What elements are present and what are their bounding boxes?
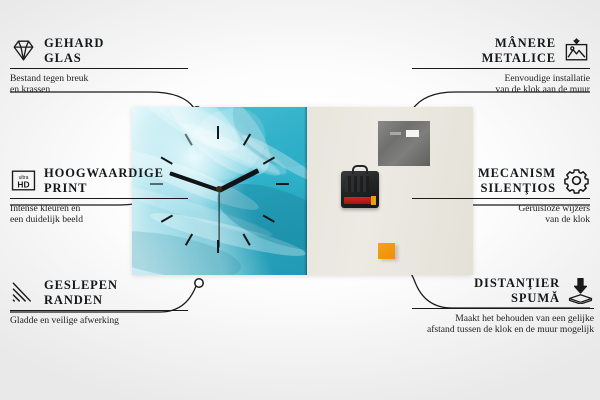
foam-spacer (378, 243, 395, 259)
feature-geslepen-randen: GESLEPEN RANDEN Gladde en veilige afwerk… (10, 278, 188, 326)
feature-mecanism-silentios: MECANISM SILENŢIOS Geruisloze wijzers va… (412, 166, 590, 226)
feature-description: Intense kleuren en een duidelijk beeld (10, 203, 188, 226)
marker-geslepen-randen (195, 279, 203, 287)
feature-header: GESLEPEN RANDEN (10, 278, 188, 307)
feature-divider (412, 308, 594, 309)
clock-hand-hub (216, 186, 222, 192)
feature-description: Eenvoudige installatie van de klok aan d… (412, 73, 590, 96)
feature-hoogwaardige-print: ultra HD HOOGWAARDIGE PRINT Intense kleu… (10, 166, 188, 226)
battery (344, 197, 374, 204)
wall-mount-picture-icon (563, 37, 590, 64)
feature-description: Maakt het behouden van een gelijke afsta… (412, 313, 594, 336)
feature-header: MECANISM SILENŢIOS (412, 166, 590, 195)
feature-divider (412, 68, 590, 69)
feature-title: GEHARD GLAS (44, 36, 104, 65)
feature-divider (412, 198, 590, 199)
feature-distantier-spuma: DISTANŢIER SPUMĂ Maakt het behouden van … (412, 276, 594, 336)
ultra-hd-icon: ultra HD (10, 167, 37, 194)
feature-title: MECANISM SILENŢIOS (478, 166, 556, 195)
feature-manere-metalice: MÂNERE METALICE Eenvoudige installatie v… (412, 36, 590, 96)
feature-description: Geruisloze wijzers van de klok (412, 203, 590, 226)
gear-icon (563, 167, 590, 194)
feature-gehard-glas: GEHARD GLAS Bestand tegen breuk en krass… (10, 36, 188, 96)
metal-hanger-plate (378, 121, 430, 166)
clock-tick (276, 183, 289, 185)
feature-header: DISTANŢIER SPUMĂ (412, 276, 594, 305)
feature-divider (10, 310, 188, 311)
feature-divider (10, 68, 188, 69)
feature-title: GESLEPEN RANDEN (44, 278, 118, 307)
bevelled-edges-icon (10, 279, 37, 306)
feature-header: MÂNERE METALICE (412, 36, 590, 65)
feature-title: DISTANŢIER SPUMĂ (474, 276, 560, 305)
diamond-icon (10, 37, 37, 64)
feature-title: MÂNERE METALICE (482, 36, 556, 65)
feature-title: HOOGWAARDIGE PRINT (44, 166, 164, 195)
foam-spacer-icon (567, 277, 594, 304)
infographic-stage: GEHARD GLAS Bestand tegen breuk en krass… (0, 0, 600, 400)
clock-tick (217, 126, 219, 139)
feature-description: Bestand tegen breuk en krassen (10, 73, 188, 96)
svg-text:HD: HD (17, 179, 29, 189)
feature-header: GEHARD GLAS (10, 36, 188, 65)
feature-header: ultra HD HOOGWAARDIGE PRINT (10, 166, 188, 195)
quartz-movement-box (341, 171, 379, 208)
feature-divider (10, 198, 188, 199)
feature-description: Gladde en veilige afwerking (10, 315, 188, 327)
clock-second-hand (218, 189, 219, 247)
